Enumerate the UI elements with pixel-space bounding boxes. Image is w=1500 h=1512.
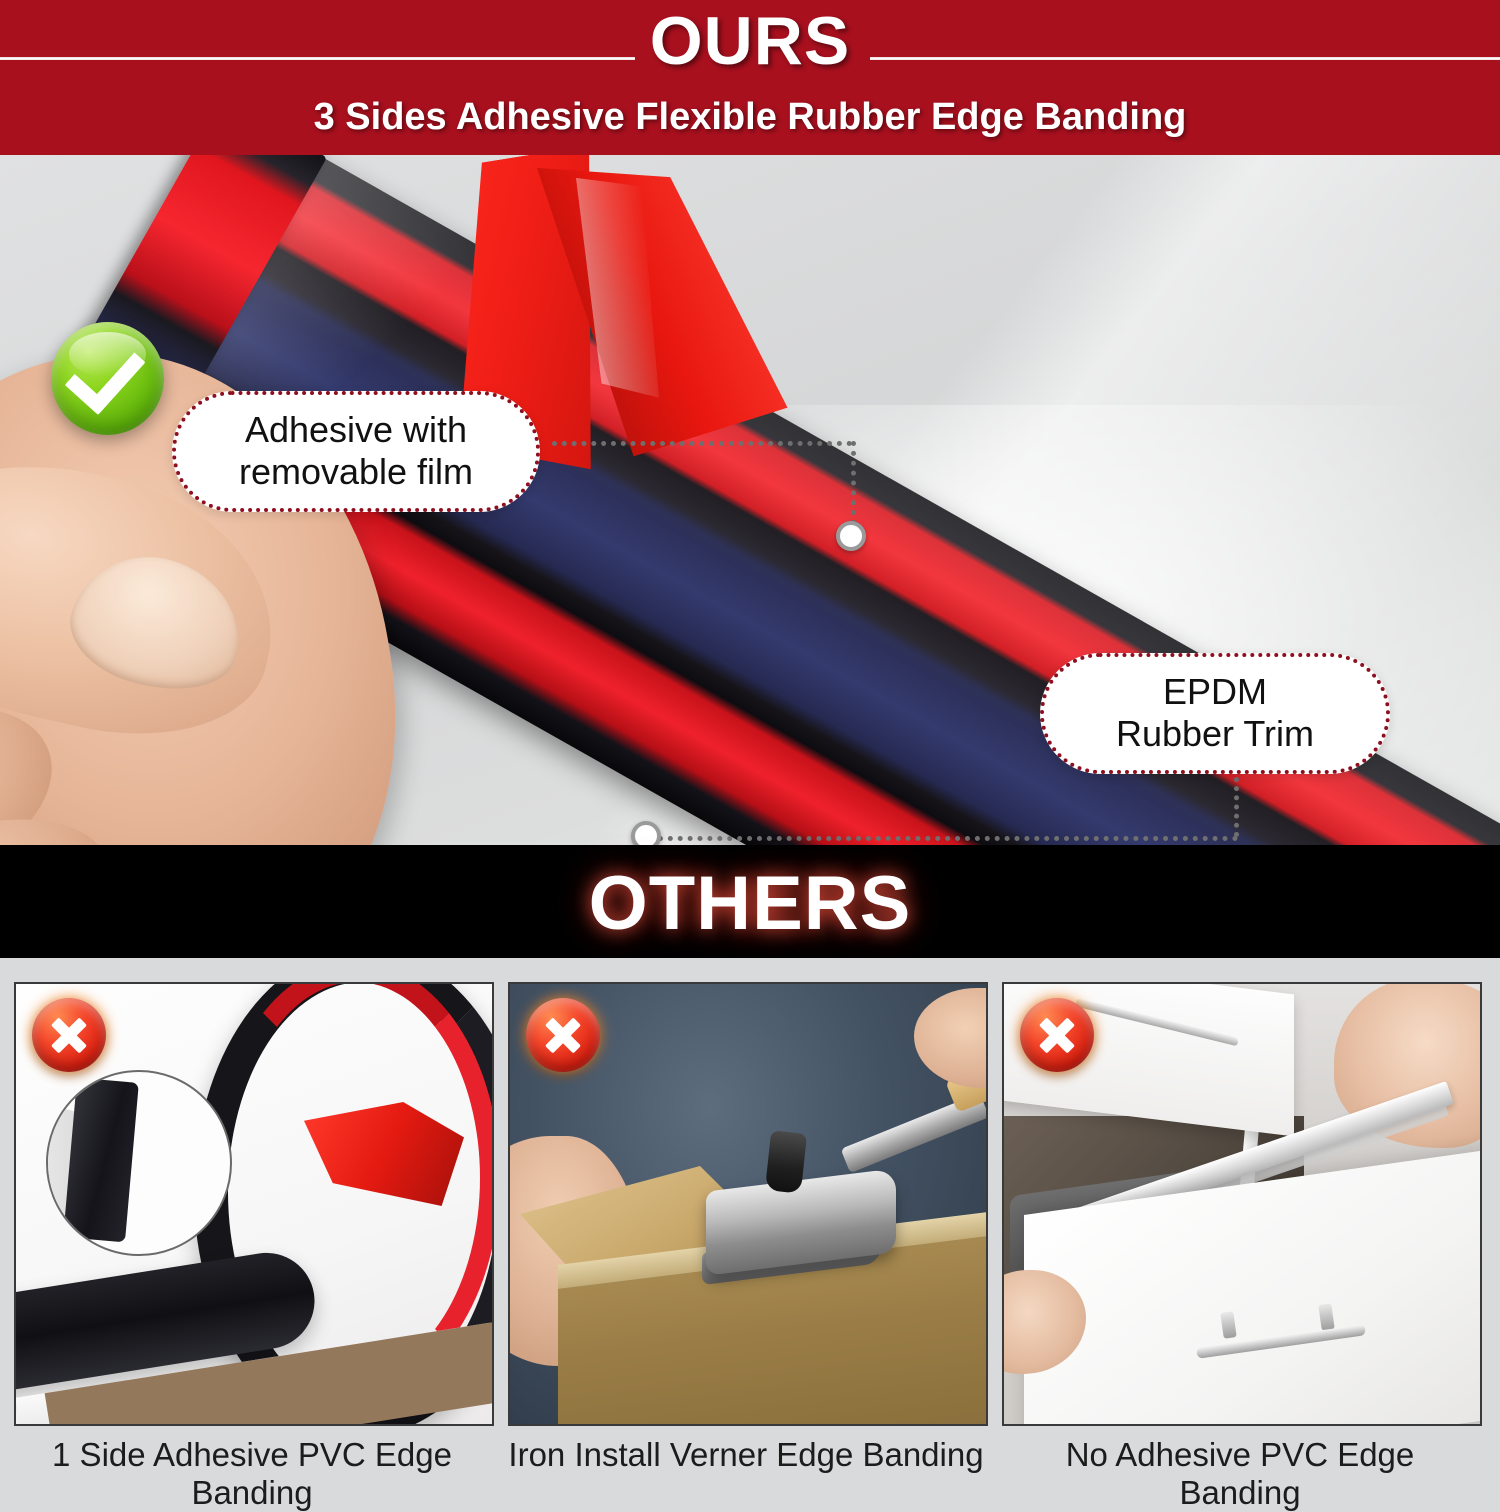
callout-node-adhesive [836,521,866,551]
others-panel-row: 1 Side Adhesive PVC Edge Banding Iron In… [0,958,1500,1500]
panel-1-caption: 1 Side Adhesive PVC Edge Banding [14,1436,490,1512]
other-panel-1 [14,982,494,1426]
callout-adhesive-film: Adhesive with removable film [172,391,540,512]
callout-node-epdm [631,821,661,845]
edge-profile-strip [63,1078,139,1243]
ours-product-photo: Adhesive with removable film EPDM Rubber… [0,155,1500,845]
banner-subtitle: 3 Sides Adhesive Flexible Rubber Edge Ba… [0,96,1500,139]
callout-adhesive-line-1: Adhesive with [245,409,467,450]
panel-2-caption: Iron Install Verner Edge Banding [508,1436,984,1474]
ours-banner: OURS 3 Sides Adhesive Flexible Rubber Ed… [0,0,1500,155]
banner-title: OURS [0,7,1500,75]
comparison-infographic: OURS 3 Sides Adhesive Flexible Rubber Ed… [0,0,1500,1500]
others-title: OTHERS [0,860,1500,947]
callout-epdm-rubber-trim: EPDM Rubber Trim [1040,653,1390,774]
x-icon [1020,998,1094,1072]
check-icon [51,322,164,435]
iron-knob [765,1130,807,1193]
edge-profile-inset [46,1070,232,1256]
other-panel-2 [508,982,988,1426]
leader-epdm-vertical [1234,777,1239,837]
panel-3-caption: No Adhesive PVC Edge Banding [1002,1436,1478,1512]
upper-drawer-handle [1076,998,1238,1047]
callout-adhesive-line-2: removable film [239,451,473,492]
check-glyph [65,332,146,415]
leader-epdm-horizontal [648,836,1238,841]
leader-adhesive-vertical [851,441,856,525]
other-panel-3 [1002,982,1482,1426]
others-banner: OTHERS [0,845,1500,958]
x-icon [526,998,600,1072]
callout-epdm-line-1: EPDM [1163,671,1267,712]
x-icon [32,998,106,1072]
leader-adhesive-horizontal [552,441,852,446]
callout-epdm-line-2: Rubber Trim [1116,713,1314,754]
